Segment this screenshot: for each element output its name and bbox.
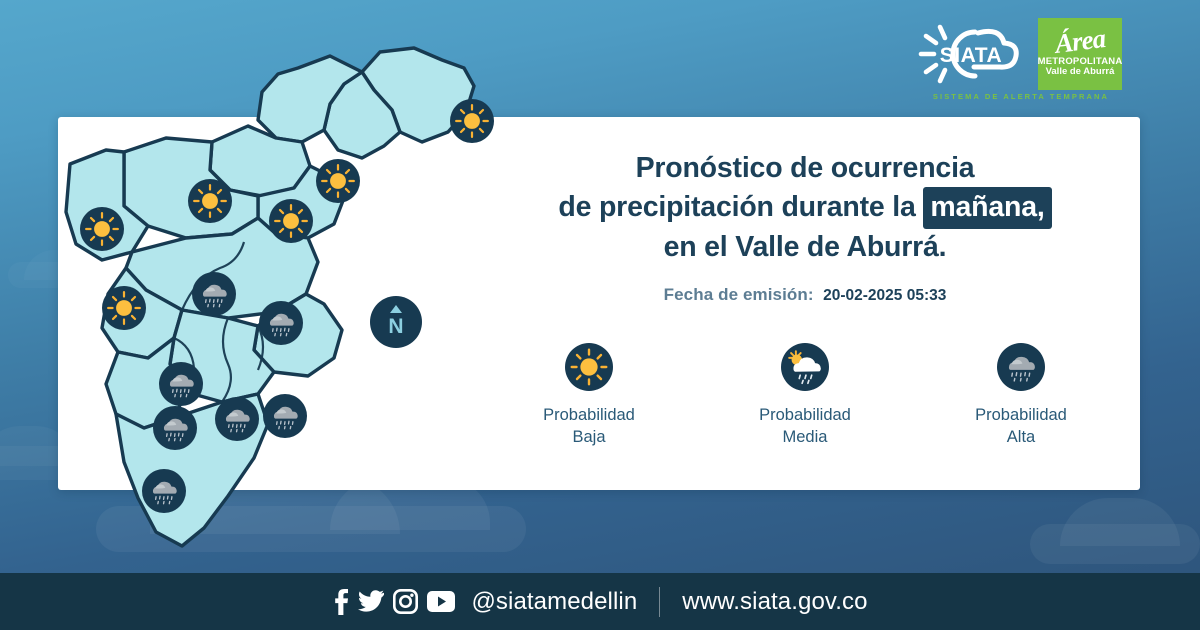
marker-caldas: [263, 394, 307, 438]
legend-label-line1: Probabilidad: [955, 404, 1087, 426]
legend-label-line2: Media: [739, 426, 871, 448]
social-icon-group: [332, 589, 455, 615]
background-cloud-icon: [1060, 498, 1180, 546]
marker-la-estrella: [153, 406, 197, 450]
legend-label-line1: Probabilidad: [739, 404, 871, 426]
cloud-rain-icon: [215, 397, 259, 441]
website-url[interactable]: www.siata.gov.co: [682, 588, 867, 616]
marker-sabaneta: [215, 397, 259, 441]
area-logo-line2: Valle de Aburrá: [1046, 67, 1115, 77]
sun-icon: [450, 99, 494, 143]
legend-label: ProbabilidadMedia: [739, 404, 871, 449]
footer-divider: [659, 587, 660, 617]
marker-envigado: [259, 301, 303, 345]
area-script-text: Área: [1054, 25, 1107, 58]
title-line-3: en el Valle de Aburrá.: [505, 229, 1105, 266]
cloud-rain-icon: [259, 301, 303, 345]
siata-logo: SIATA: [912, 18, 1030, 90]
youtube-icon[interactable]: [427, 591, 455, 612]
marker-girardota: [316, 159, 360, 203]
marker-bello: [188, 179, 232, 223]
legend-item-low: ProbabilidadBaja: [523, 343, 655, 449]
marker-barbosa: [450, 99, 494, 143]
valle-de-aburra-map: N: [62, 46, 482, 576]
facebook-icon[interactable]: [332, 589, 349, 615]
emission-value: 20-02-2025 05:33: [823, 287, 946, 304]
sun-icon: [316, 159, 360, 203]
siata-tagline: SISTEMA DE ALERTA TEMPRANA: [920, 92, 1122, 101]
sun-icon: [269, 199, 313, 243]
social-handle[interactable]: @siatamedellin: [471, 588, 637, 616]
cloud-rain-icon: [192, 272, 236, 316]
legend-label: ProbabilidadAlta: [955, 404, 1087, 449]
sun-icon: [102, 286, 146, 330]
north-arrow-icon: N: [370, 296, 422, 348]
sun-icon: [188, 179, 232, 223]
infographic-canvas: SIATA Área METROPOLITANA Valle de Aburrá…: [0, 0, 1200, 630]
title-highlight-manana: mañana,: [923, 187, 1051, 229]
legend-label: ProbabilidadBaja: [523, 404, 655, 449]
instagram-icon[interactable]: [393, 589, 418, 614]
footer-bar: @siatamedellin www.siata.gov.co: [0, 573, 1200, 630]
legend-item-high: ProbabilidadAlta: [955, 343, 1087, 449]
marker-san-pedro: [80, 207, 124, 251]
legend-label-line1: Probabilidad: [523, 404, 655, 426]
twitter-icon[interactable]: [358, 590, 384, 613]
emission-date: Fecha de emisión: 20-02-2025 05:33: [505, 285, 1105, 305]
page-title: Pronóstico de ocurrencia de precipitació…: [505, 150, 1105, 266]
legend-label-line2: Alta: [955, 426, 1087, 448]
marker-copacabana: [269, 199, 313, 243]
marker-medellin-nw: [102, 286, 146, 330]
probability-legend: ProbabilidadBaja ProbabilidadMedia: [505, 343, 1105, 449]
title-line-2-text: de precipitación durante la: [558, 191, 915, 223]
forecast-content: Pronóstico de ocurrencia de precipitació…: [505, 150, 1105, 449]
cloud-rain-icon: [263, 394, 307, 438]
cloud-rain-icon: [153, 406, 197, 450]
sun-icon: [80, 207, 124, 251]
north-arrow-triangle: [390, 305, 402, 313]
cloud-rain-icon: [997, 343, 1045, 391]
marker-itagui: [159, 362, 203, 406]
emission-label: Fecha de emisión:: [664, 285, 814, 304]
cloud-rain-icon: [159, 362, 203, 406]
title-line-1: Pronóstico de ocurrencia: [505, 150, 1105, 187]
marker-medellin: [192, 272, 236, 316]
north-label: N: [388, 316, 403, 337]
sun-cloud-rain-icon: [781, 343, 829, 391]
legend-label-line2: Baja: [523, 426, 655, 448]
logo-group: SIATA Área METROPOLITANA Valle de Aburrá: [912, 18, 1122, 90]
cloud-rain-icon: [142, 469, 186, 513]
marker-caldas-south: [142, 469, 186, 513]
siata-wordmark: SIATA: [940, 44, 1002, 67]
legend-item-medium: ProbabilidadMedia: [739, 343, 871, 449]
area-metropolitana-logo: Área METROPOLITANA Valle de Aburrá: [1038, 18, 1122, 90]
title-line-2: de precipitación durante la mañana,: [505, 187, 1105, 229]
sun-icon: [565, 343, 613, 391]
